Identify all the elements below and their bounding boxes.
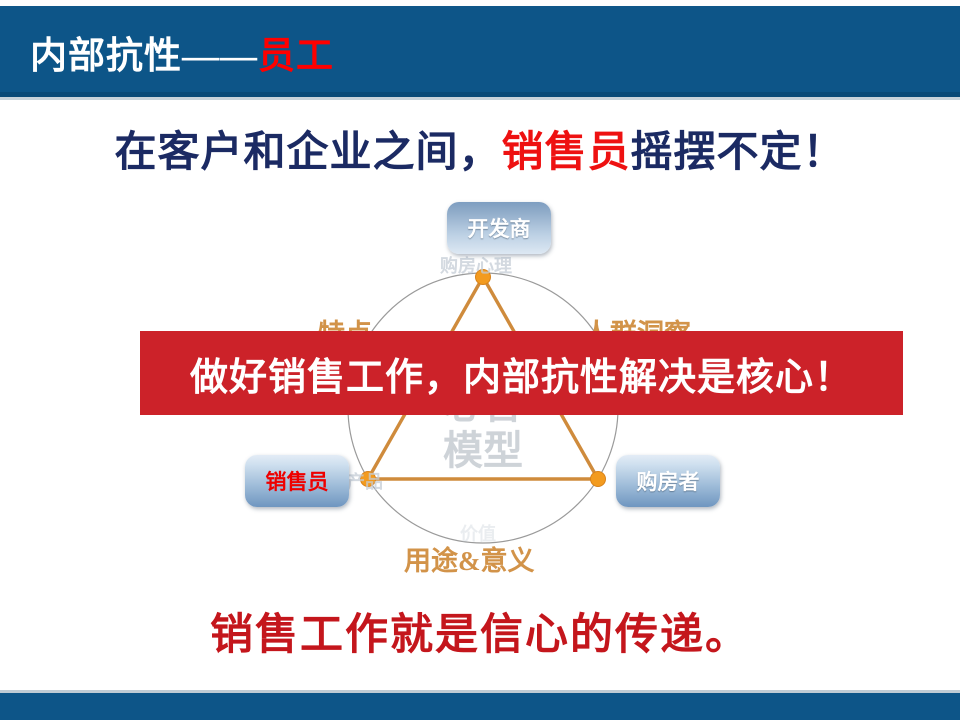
ghost-label-top: 购房心理 — [440, 252, 512, 278]
slide-canvas: 内部抗性——员工 在客户和企业之间，销售员摇摆不定！ 购房心理 产品 价值 心智… — [0, 0, 960, 720]
node-developer-label: 开发商 — [468, 213, 531, 243]
ghost-label-left: 产品 — [347, 468, 383, 494]
key-message-text: 做好销售工作，内部抗性解决是核心！ — [190, 346, 853, 401]
node-salesperson-label: 销售员 — [266, 466, 329, 496]
key-message-banner: 做好销售工作，内部抗性解决是核心！ — [140, 331, 903, 415]
node-homebuyer[interactable]: 购房者 — [616, 455, 720, 507]
center-label-line2: 模型 — [413, 418, 553, 476]
ring-label-purpose-meaning: 用途&意义 — [404, 539, 535, 578]
node-developer[interactable]: 开发商 — [447, 202, 551, 254]
bottom-statement: 销售工作就是信心的传递。 — [0, 600, 960, 662]
node-salesperson[interactable]: 销售员 — [245, 455, 349, 507]
node-homebuyer-label: 购房者 — [637, 466, 700, 496]
vertex-dot-right — [591, 472, 606, 487]
bottom-bar — [0, 693, 960, 720]
